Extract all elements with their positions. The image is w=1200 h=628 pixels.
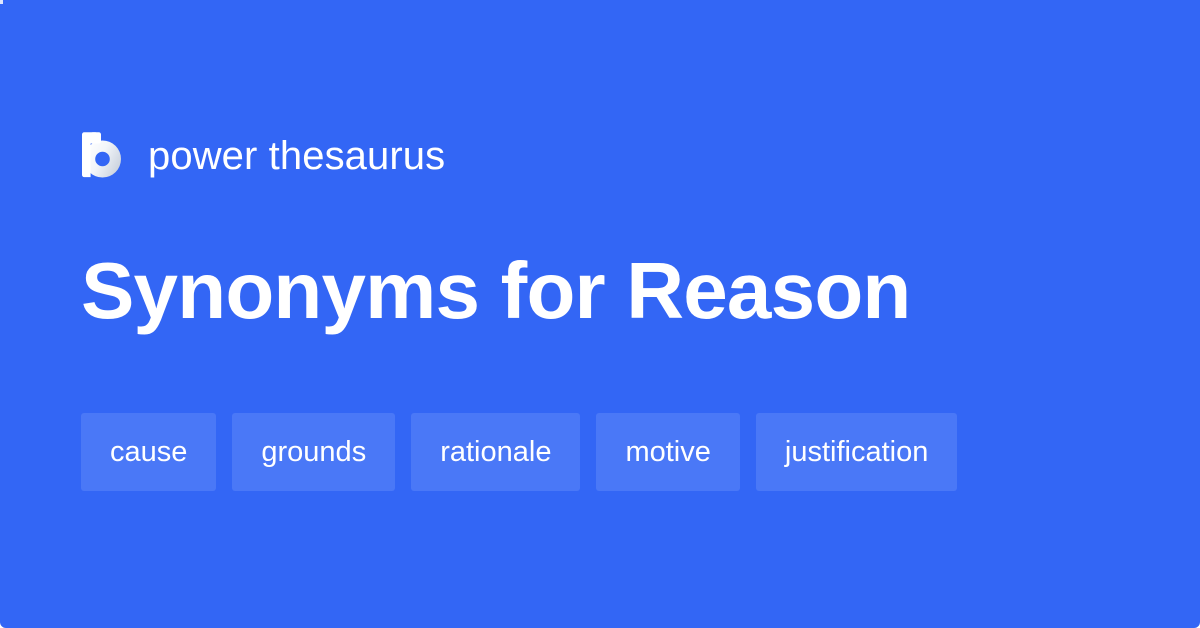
power-thesaurus-b-logo-icon [81,130,125,182]
synonym-chip[interactable]: rationale [411,413,580,491]
brand-header[interactable]: power thesaurus [81,128,445,184]
synonym-chip-label: grounds [261,438,366,467]
synonym-chip-label: cause [110,438,187,467]
synonym-chip[interactable]: grounds [232,413,395,491]
open-graph-card: power thesaurus Synonyms for Reason caus… [0,0,1200,628]
synonym-chip-list: causegroundsrationalemotivejustification [81,413,957,491]
brand-name: power thesaurus [148,136,445,176]
synonym-chip-label: motive [625,438,710,467]
page-title: Synonyms for Reason [81,248,910,334]
synonym-chip[interactable]: cause [81,413,216,491]
corner-artifact [0,0,3,4]
synonym-chip[interactable]: motive [596,413,739,491]
synonym-chip-label: rationale [440,438,551,467]
synonym-chip-label: justification [785,438,928,467]
synonym-chip[interactable]: justification [756,413,957,491]
